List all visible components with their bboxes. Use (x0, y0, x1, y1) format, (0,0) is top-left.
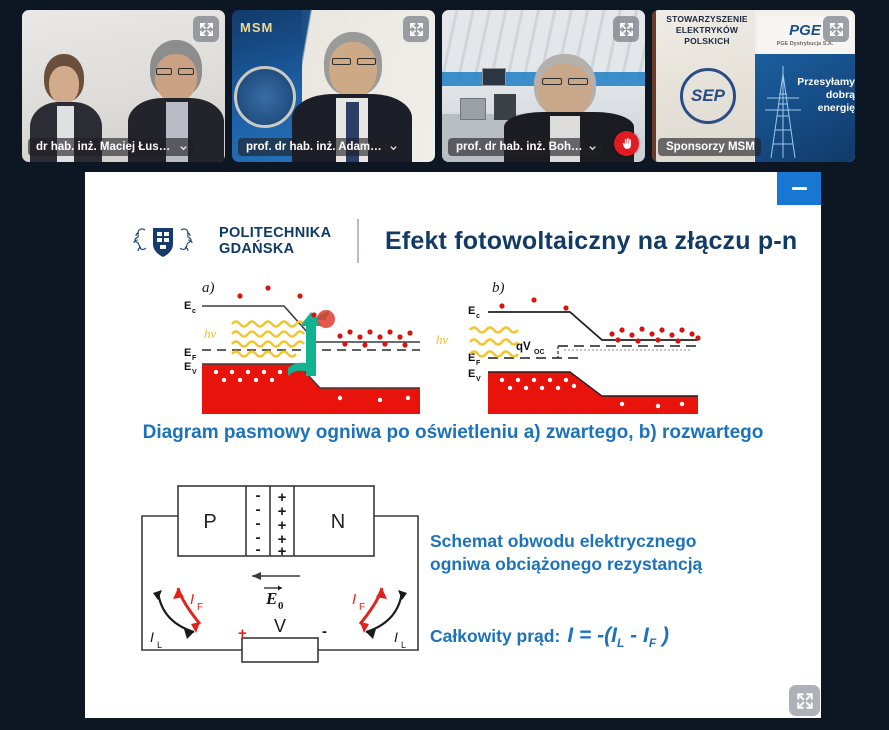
participant-name-label[interactable]: prof. dr hab. inż. Adam K… (238, 138, 404, 156)
band-diagram-panel-a: a) E c E F E V hν (180, 276, 440, 414)
expand-icon[interactable] (789, 685, 820, 716)
formula-term1-sub: L (617, 636, 624, 650)
gdansk-tech-crest-icon (117, 221, 209, 261)
expand-icon[interactable] (823, 16, 849, 42)
svg-text:OC: OC (534, 349, 545, 356)
circuit-description-line1: Schemat obwodu elektrycznego (430, 530, 790, 553)
participant-name: prof. dr hab. inż. Boh… (456, 141, 583, 153)
formula-expression: I = -(IL - IF ) (567, 624, 669, 650)
svg-text:E: E (184, 347, 191, 359)
raised-hand-reaction-icon (614, 131, 639, 156)
svg-text:E: E (184, 300, 191, 312)
brand-line-1: POLITECHNIKA (219, 225, 331, 241)
video-participant-strip: dr hab. inż. Maciej Łuszc… MSM prof. dr … (0, 0, 889, 172)
expand-icon[interactable] (403, 16, 429, 42)
n-region-label: N (331, 511, 345, 533)
header-divider (357, 219, 359, 263)
current-il-right: I (394, 629, 398, 645)
svg-text:hν: hν (436, 332, 449, 347)
svg-text:hν: hν (204, 326, 217, 341)
circuit-description: Schemat obwodu elektrycznego ogniwa obci… (430, 530, 790, 576)
brand-line-2: GDAŃSKA (219, 241, 331, 257)
svg-text:E: E (468, 305, 475, 317)
chevron-down-icon[interactable] (179, 143, 188, 152)
minimize-button[interactable] (777, 172, 821, 205)
expand-icon[interactable] (193, 16, 219, 42)
svg-text:L: L (401, 640, 406, 650)
band-diagram-figure: a) E c E F E V hν (85, 276, 821, 414)
participant-tile[interactable]: MSM prof. dr hab. inż. Adam K… (232, 10, 435, 162)
band-diagram-panel-b: b) E c E F E V qV OC hν (430, 276, 710, 414)
svg-text:V: V (192, 369, 197, 376)
participant-tile[interactable]: STOWARZYSZENIEELEKTRYKÓW POLSKICH SEP PG… (652, 10, 855, 162)
formula-close: ) (662, 624, 669, 647)
sponsor-sep-title: STOWARZYSZENIEELEKTRYKÓW POLSKICH (664, 14, 750, 47)
participant-name: prof. dr hab. inż. Adam K… (246, 141, 384, 153)
svg-text:a): a) (202, 280, 215, 296)
participant-name-label[interactable]: dr hab. inż. Maciej Łuszc… (28, 138, 194, 156)
msm-banner-text: MSM (240, 20, 273, 35)
svg-text:F: F (192, 355, 197, 362)
circuit-diagram: P N --- -- +++ ++ E 0 I F I F (130, 472, 430, 672)
expand-icon[interactable] (613, 16, 639, 42)
formula-term2-sub: F (649, 636, 656, 650)
svg-text:c: c (192, 308, 196, 315)
minimize-icon (792, 187, 807, 190)
terminal-plus: + (238, 625, 247, 642)
politechnika-gdanska-logo: POLITECHNIKA GDAŃSKA (117, 221, 331, 261)
svg-text:b): b) (492, 280, 505, 296)
current-il-left: I (150, 629, 154, 645)
svg-text:0: 0 (278, 600, 284, 612)
svg-text:F: F (359, 602, 365, 613)
load-voltage-label: V (274, 616, 286, 636)
chevron-down-icon[interactable] (588, 143, 597, 152)
participant-name-label[interactable]: prof. dr hab. inż. Boh… (448, 138, 603, 156)
current-if-right: I (352, 591, 356, 608)
svg-text:E: E (184, 361, 191, 373)
current-if-left: I (190, 591, 194, 608)
sep-logo-text: SEP (683, 71, 733, 121)
formula-minus: - (630, 624, 637, 647)
participant-tile[interactable]: prof. dr hab. inż. Boh… (442, 10, 645, 162)
svg-text:F: F (476, 360, 481, 367)
slide-header: POLITECHNIKA GDAŃSKA Efekt fotowoltaiczn… (85, 208, 821, 274)
svg-text:L: L (157, 640, 162, 650)
participant-tile[interactable]: dr hab. inż. Maciej Łuszc… (22, 10, 225, 162)
svg-text:-: - (256, 541, 261, 558)
svg-text:c: c (476, 313, 480, 320)
circuit-description-line2: ogniwa obciążonego rezystancją (430, 553, 790, 576)
chevron-down-icon[interactable] (389, 143, 398, 152)
formula-eq: = -( (579, 624, 611, 647)
svg-text:E: E (468, 368, 475, 380)
participant-name: dr hab. inż. Maciej Łuszc… (36, 141, 174, 153)
svg-text:V: V (476, 376, 481, 383)
terminal-minus: - (322, 623, 327, 640)
pge-slogan: Przesyłamydobrąenergię (797, 76, 855, 115)
participant-name: Sponsorzy MSM (666, 141, 755, 153)
formula-label: Całkowity prąd: (430, 626, 560, 647)
p-region-label: P (203, 511, 216, 533)
participant-name-label[interactable]: Sponsorzy MSM (658, 138, 761, 156)
field-label: E (265, 589, 277, 608)
shared-slide: POLITECHNIKA GDAŃSKA Efekt fotowoltaiczn… (85, 172, 821, 718)
formula-lhs: I (567, 624, 573, 647)
slide-title: Efekt fotowoltaiczny na złączu p-n (385, 227, 797, 256)
figure-caption: Diagram pasmowy ogniwa po oświetleniu a)… (85, 422, 821, 444)
svg-text:+: + (278, 543, 287, 560)
svg-text:F: F (197, 602, 203, 613)
total-current-formula: Całkowity prąd: I = -(IL - IF ) (430, 624, 800, 650)
